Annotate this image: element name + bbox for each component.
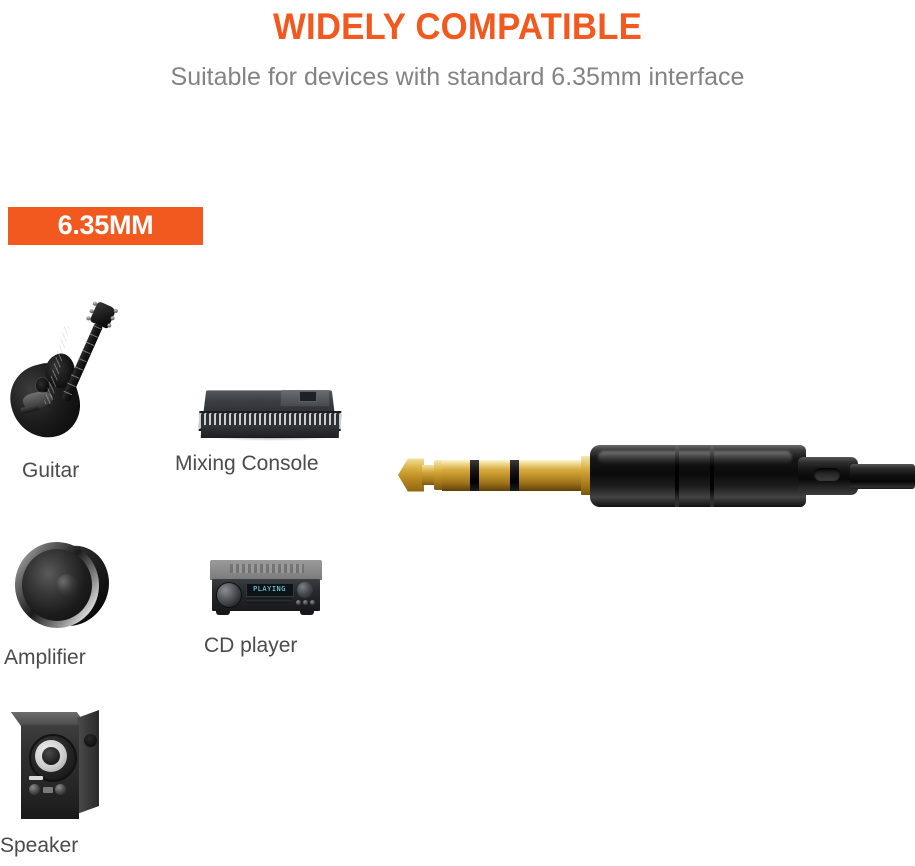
page-title: WIDELY COMPATIBLE [27, 6, 887, 48]
connector-groove-2 [710, 445, 714, 507]
connector-insulator-ring-1 [470, 460, 479, 491]
speaker-top-face [11, 712, 87, 726]
connector-strain-relief-dimple [814, 468, 840, 481]
speaker-side-panel [77, 710, 99, 814]
cd-player-disc-slot [246, 598, 292, 603]
connector-groove-1 [675, 445, 679, 507]
cd-player-volume-knob [216, 582, 242, 608]
size-badge-label: 6.35MM [58, 210, 154, 241]
device-label-speaker: Speaker [0, 824, 130, 858]
amplifier-dust-cap [56, 574, 78, 598]
speaker-dust-cap [42, 747, 60, 765]
electric-guitar-icon [5, 296, 125, 451]
device-label-cd-player: CD player [186, 622, 346, 658]
speaker-bass-port [84, 734, 97, 747]
device-item-cd-player: PLAYING CD player [186, 560, 346, 658]
cd-player-buttons [296, 600, 316, 607]
device-item-speaker: Speaker [0, 712, 130, 858]
connector-cable [850, 464, 915, 489]
mixer-screen [299, 391, 317, 402]
speaker-cabinet-icon [15, 712, 115, 824]
connector-barrel [590, 445, 806, 507]
connector-tip [398, 457, 424, 493]
device-item-amplifier: Amplifier [0, 538, 130, 670]
cd-player-foot-right [300, 610, 314, 615]
speaker-badge-plate [43, 787, 53, 793]
speaker-knob-left [29, 784, 40, 795]
mixer-shadow [205, 437, 337, 441]
connector-insulator-ring-2 [510, 460, 519, 491]
device-label-amplifier: Amplifier [0, 636, 130, 670]
amplifier-driver-icon [13, 538, 117, 636]
cd-player-display-text: PLAYING [247, 584, 293, 595]
cd-player-icon: PLAYING [204, 560, 329, 622]
mixing-console-icon [195, 380, 345, 442]
device-item-mixing-console: Mixing Console [175, 380, 365, 476]
cd-player-vents [230, 564, 304, 573]
device-label-mixing-console: Mixing Console [175, 442, 365, 476]
speaker-knob-right [55, 784, 66, 795]
cd-player-foot-left [216, 610, 230, 615]
device-item-guitar: Guitar [0, 296, 130, 483]
size-badge: 6.35MM [8, 207, 203, 245]
speaker-trim-strip [29, 776, 43, 780]
cd-player-selector-knob [297, 582, 313, 598]
trs-connector-image [398, 415, 915, 540]
cd-player-display: PLAYING [246, 583, 294, 597]
guitar-tuning-pegs [85, 297, 121, 332]
device-label-guitar: Guitar [0, 451, 130, 483]
page-subtitle: Suitable for devices with standard 6.35m… [0, 63, 915, 92]
